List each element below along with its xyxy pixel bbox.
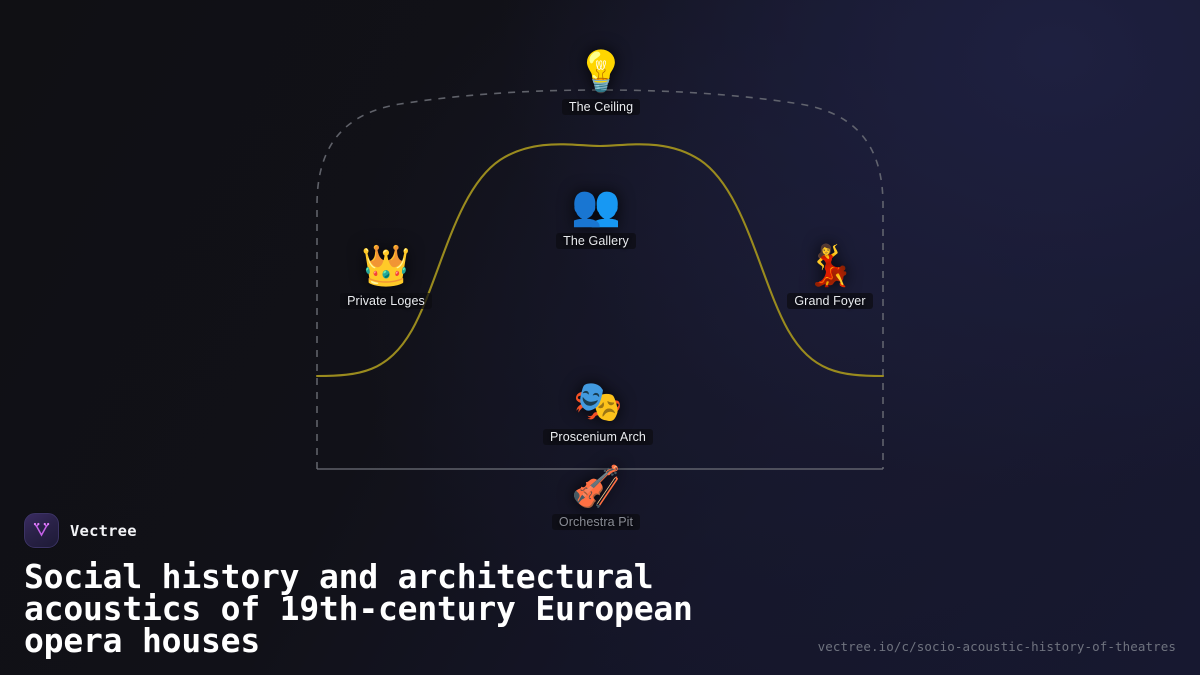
- brand-name: Vectree: [70, 522, 137, 540]
- footer: Vectree Social history and architectural…: [0, 513, 1200, 675]
- diagram-node-label: Grand Foyer: [787, 293, 872, 309]
- dancer-icon: 💃: [730, 246, 930, 286]
- diagram-node-label: The Gallery: [556, 233, 636, 249]
- light-bulb-icon: 💡: [501, 52, 701, 92]
- busts-in-silhouette-icon: 👥: [496, 186, 696, 226]
- crown-icon: 👑: [286, 246, 486, 286]
- diagram-node-label: Private Loges: [340, 293, 432, 309]
- source-url: vectree.io/c/socio-acoustic-history-of-t…: [818, 639, 1176, 654]
- diagram-node-label: Proscenium Arch: [543, 429, 653, 445]
- diagram-node-label: The Ceiling: [562, 99, 640, 115]
- vectree-logo-icon: [24, 513, 59, 548]
- diagram-node-private-loges[interactable]: 👑 Private Loges: [286, 246, 486, 310]
- brand-row[interactable]: Vectree: [24, 513, 1176, 548]
- diagram-node-the-ceiling[interactable]: 💡 The Ceiling: [501, 52, 701, 116]
- page-title: Social history and architectural acousti…: [24, 561, 784, 657]
- violin-icon: 🎻: [496, 467, 696, 507]
- diagram-node-grand-foyer[interactable]: 💃 Grand Foyer: [730, 246, 930, 310]
- diagram-node-proscenium-arch[interactable]: 🎭 Proscenium Arch: [498, 382, 698, 446]
- screenshot-canvas: 💡 The Ceiling 👥 The Gallery 👑 Private Lo…: [0, 0, 1200, 675]
- performing-arts-icon: 🎭: [498, 382, 698, 422]
- diagram-node-the-gallery[interactable]: 👥 The Gallery: [496, 186, 696, 250]
